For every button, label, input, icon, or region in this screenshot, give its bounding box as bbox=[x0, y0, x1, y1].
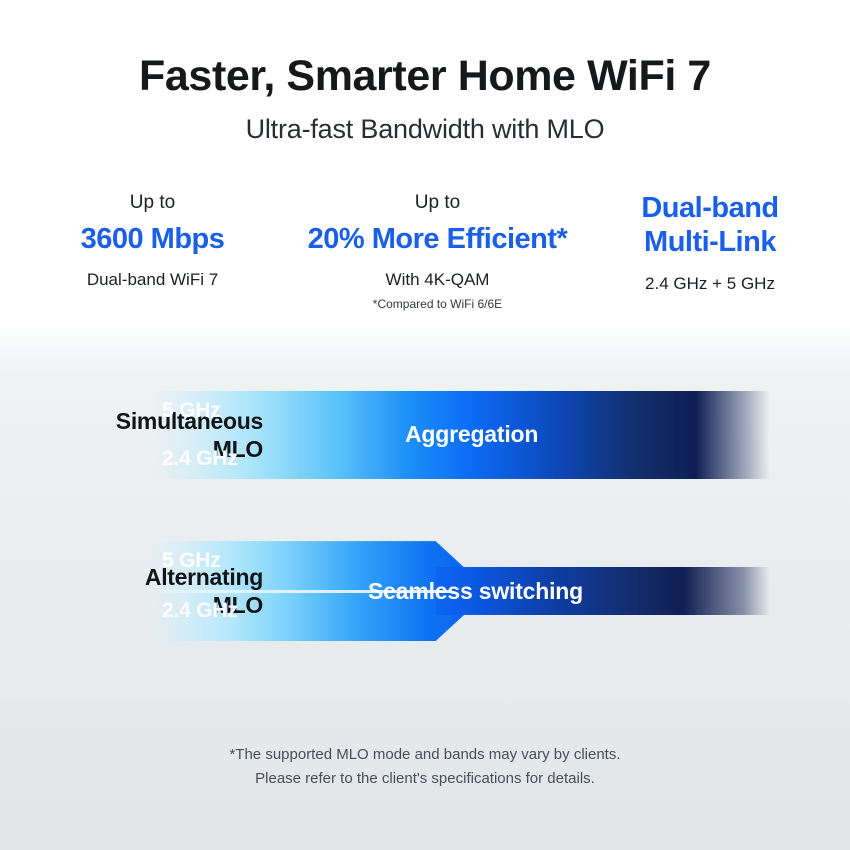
stat-eyebrow: Up to bbox=[280, 191, 595, 215]
mode-label-seamless-switching: Seamless switching bbox=[368, 578, 583, 605]
stat-card-efficiency: Up to 20% More Efficient* With 4K-QAM *C… bbox=[280, 191, 595, 313]
footnote-line1: *The supported MLO mode and bands may va… bbox=[0, 743, 850, 768]
stat-value: 20% More Efficient* bbox=[280, 222, 595, 256]
stat-footnote: *Compared to WiFi 6/6E bbox=[280, 297, 595, 313]
header: Faster, Smarter Home WiFi 7 Ultra-fast B… bbox=[0, 0, 850, 145]
band-label-24ghz: 2.4 GHz bbox=[162, 599, 238, 623]
stat-card-speed: Up to 3600 Mbps Dual-band WiFi 7 bbox=[25, 191, 280, 291]
page-subtitle: Ultra-fast Bandwidth with MLO bbox=[0, 114, 850, 145]
band-label-5ghz: 5 GHz bbox=[162, 549, 221, 573]
stat-card-multilink: Dual-band Multi-Link 2.4 GHz + 5 GHz bbox=[595, 191, 825, 295]
page-title: Faster, Smarter Home WiFi 7 bbox=[0, 52, 850, 100]
stat-value: 3600 Mbps bbox=[25, 222, 280, 256]
band-label-24ghz: 2.4 GHz bbox=[162, 447, 238, 471]
diagram-label-line1: Simultaneous bbox=[58, 407, 263, 435]
band-label-5ghz: 5 GHz bbox=[162, 399, 221, 423]
diagram-label-line1: Alternating bbox=[58, 563, 263, 591]
stat-subtitle: With 4K-QAM bbox=[280, 269, 595, 291]
stat-subtitle: 2.4 GHz + 5 GHz bbox=[595, 273, 825, 295]
mode-label-aggregation: Aggregation bbox=[405, 421, 538, 448]
footnote-line2: Please refer to the client's specificati… bbox=[0, 767, 850, 792]
diagram-simultaneous-mlo: Simultaneous MLO 5 GHz 2.4 GHz Aggregati… bbox=[0, 379, 850, 491]
footnote: *The supported MLO mode and bands may va… bbox=[0, 743, 850, 793]
mlo-diagrams: Simultaneous MLO 5 GHz 2.4 GHz Aggregati… bbox=[0, 379, 850, 647]
stats-row: Up to 3600 Mbps Dual-band WiFi 7 Up to 2… bbox=[0, 191, 850, 313]
stat-value-line2: Multi-Link bbox=[595, 225, 825, 259]
stat-subtitle: Dual-band WiFi 7 bbox=[25, 269, 280, 291]
stat-eyebrow: Up to bbox=[25, 191, 280, 215]
diagram-alternating-mlo: Alternating MLO 5 GHz 2.4 GHz Seamless s… bbox=[0, 535, 850, 647]
stat-value-line1: Dual-band bbox=[595, 191, 825, 225]
